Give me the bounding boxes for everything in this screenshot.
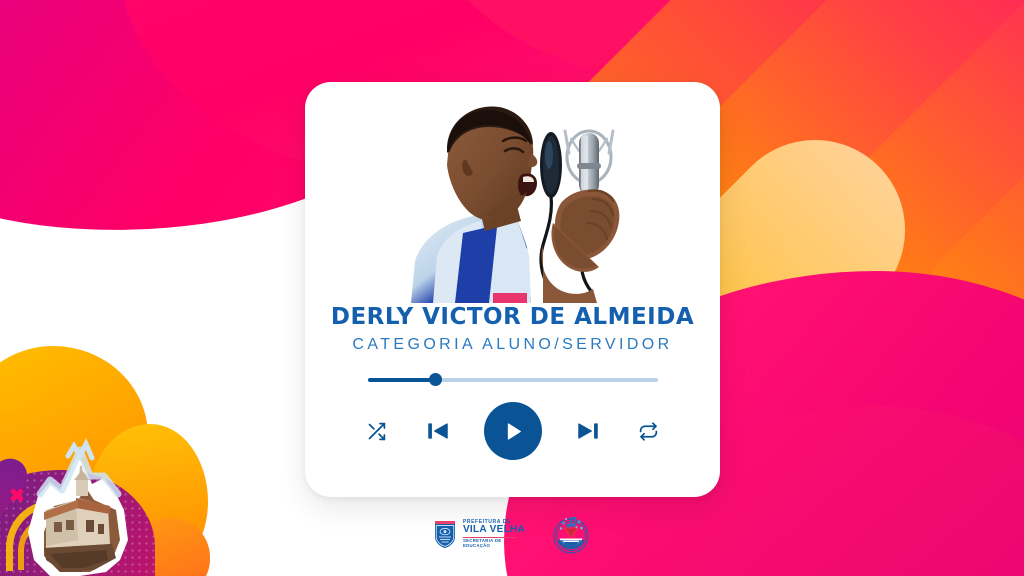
church-illustration — [20, 436, 144, 576]
prefeitura-text-block: PREFEITURA DE VILA VELHA SECRETARIA DE E… — [463, 520, 525, 549]
progress-knob[interactable] — [429, 373, 442, 386]
previous-track-icon[interactable] — [422, 415, 454, 447]
prefeitura-vila-velha-logo: PREFEITURA DE VILA VELHA SECRETARIA DE E… — [433, 519, 525, 549]
next-track-icon[interactable] — [572, 415, 604, 447]
slide-canvas: ✖ — [0, 0, 1024, 576]
coat-of-arms-icon — [433, 519, 457, 549]
magenta-blob-top-middle — [420, 0, 940, 80]
diagonal-capsule-4 — [870, 0, 1024, 482]
orange-blob-1 — [0, 346, 148, 526]
pink-x-marker: ✖ — [9, 489, 25, 505]
repeat-icon[interactable] — [634, 416, 664, 446]
prefeitura-line-2: VILA VELHA — [463, 525, 525, 536]
player-controls — [305, 402, 720, 460]
page-title: DERLY VICTOR DE ALMEIDA — [305, 304, 720, 330]
player-card: DERLY VICTOR DE ALMEIDA CATEGORIA ALUNO/… — [305, 82, 720, 497]
progress-slider[interactable] — [368, 373, 658, 387]
performer-photo-container — [305, 88, 720, 303]
category-label: CATEGORIA ALUNO/SERVIDOR — [305, 336, 720, 354]
play-button[interactable] — [484, 402, 542, 460]
prefeitura-line-4: EDUCAÇÃO — [463, 544, 525, 549]
singer-at-microphone-photo — [393, 95, 633, 303]
shuffle-icon[interactable] — [362, 416, 392, 446]
music-festival-emblem — [551, 513, 591, 555]
play-icon — [500, 419, 525, 444]
progress-fill — [368, 378, 435, 382]
footer-logos: PREFEITURA DE VILA VELHA SECRETARIA DE E… — [0, 513, 1024, 555]
